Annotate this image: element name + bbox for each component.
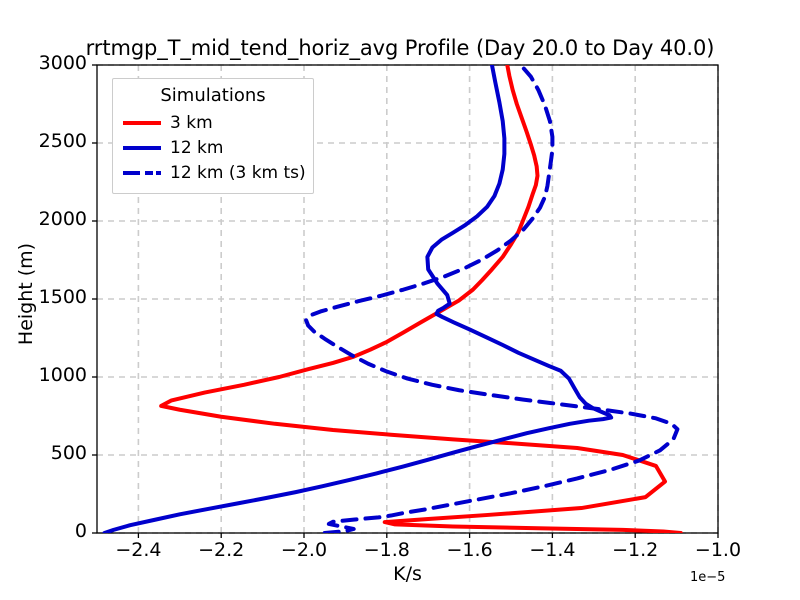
y-tick-label: 500: [7, 442, 87, 464]
y-axis-label: Height (m): [15, 194, 37, 394]
x-tick-label: −1.6: [430, 539, 510, 561]
x-axis-exponent-offset: 1e−5: [690, 570, 725, 585]
legend-item-label: 12 km (3 km ts): [170, 163, 306, 183]
legend-item[interactable]: 12 km (3 km ts): [123, 160, 303, 185]
legend-item-label: 3 km: [170, 113, 213, 133]
legend[interactable]: Simulations 3 km12 km12 km (3 km ts): [112, 78, 314, 194]
legend-title: Simulations: [123, 85, 303, 106]
legend-item[interactable]: 3 km: [123, 110, 303, 135]
figure-canvas: rrtmgp_T_mid_tend_horiz_avg Profile (Day…: [0, 0, 800, 600]
x-axis-label: K/s: [97, 563, 718, 585]
legend-item[interactable]: 12 km: [123, 135, 303, 160]
legend-color-swatch: [123, 140, 161, 156]
legend-item-label: 12 km: [170, 138, 223, 158]
x-tick-label: −1.2: [595, 539, 675, 561]
legend-color-swatch: [123, 165, 161, 181]
x-tick-label: −1.8: [347, 539, 427, 561]
x-tick-label: −2.4: [98, 539, 178, 561]
y-tick-label: 0: [7, 520, 87, 542]
x-tick-label: −1.0: [678, 539, 758, 561]
x-tick-label: −2.0: [264, 539, 344, 561]
x-tick-label: −2.2: [181, 539, 261, 561]
y-tick-label: 2500: [7, 130, 87, 152]
legend-entries: 3 km12 km12 km (3 km ts): [123, 110, 303, 185]
legend-color-swatch: [123, 115, 161, 131]
y-tick-label: 3000: [7, 52, 87, 74]
x-tick-label: −1.4: [512, 539, 592, 561]
